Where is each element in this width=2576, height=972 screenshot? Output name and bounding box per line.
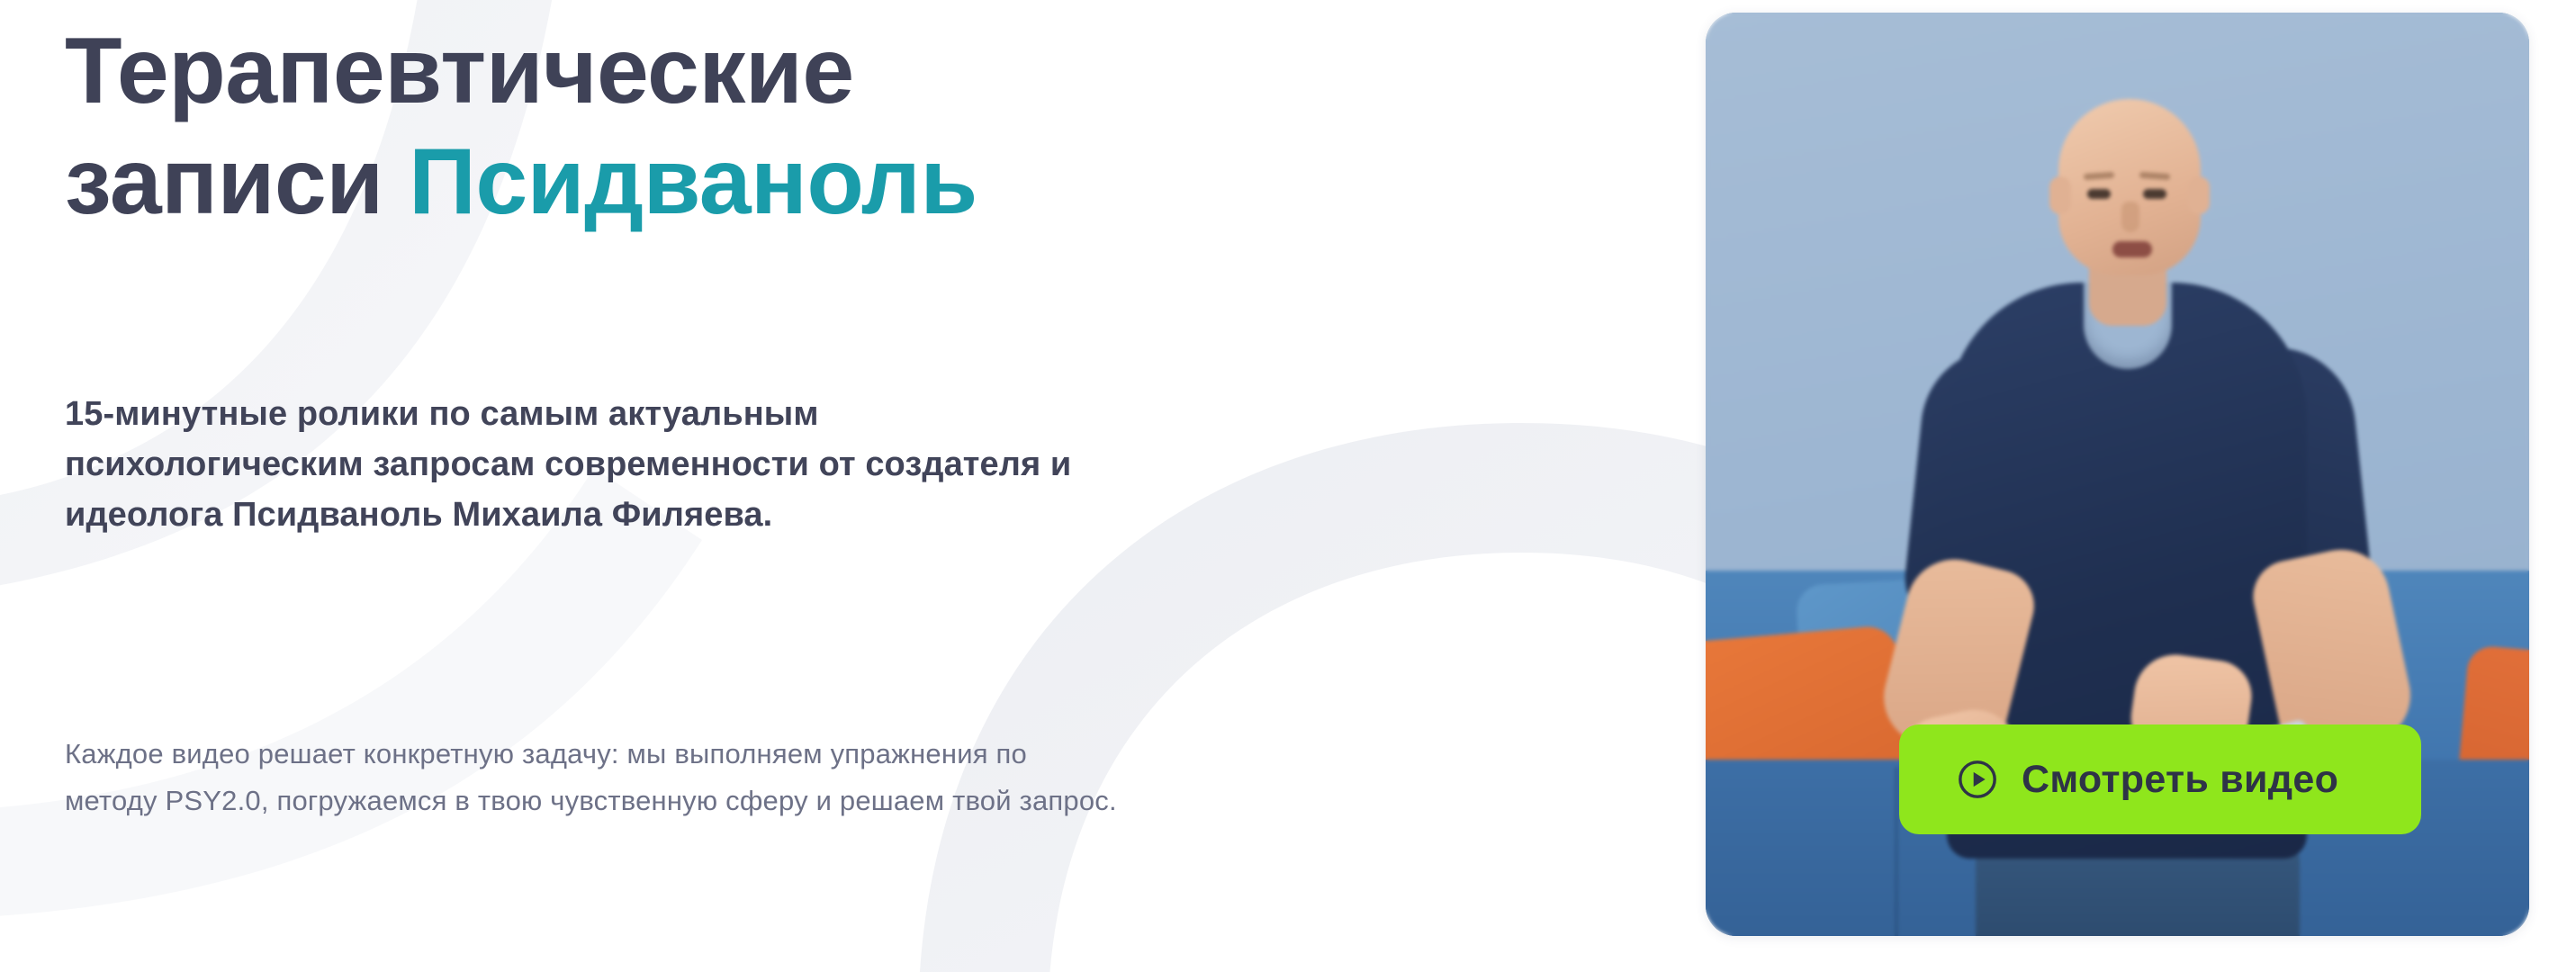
headline-line-2-plain: записи — [65, 130, 409, 234]
watch-video-button-label: Смотреть видео — [2022, 758, 2338, 802]
headline-brand-accent: Псидваноль — [409, 130, 977, 234]
hero-text-column: Терапевтические записи Псидваноль 15-мин… — [65, 0, 1613, 972]
hero-body-copy: Каждое видео решает конкретную задачу: м… — [65, 731, 1127, 824]
hero-subheadline: 15-минутные ролики по самым актуальным п… — [65, 389, 1091, 541]
watch-video-button[interactable]: Смотреть видео — [1899, 724, 2421, 834]
video-preview-card[interactable]: Смотреть видео — [1706, 13, 2529, 936]
page-title: Терапевтические записи Псидваноль — [65, 16, 1469, 237]
hero-section: Терапевтические записи Псидваноль 15-мин… — [0, 0, 2576, 972]
headline-line-1: Терапевтические — [65, 19, 854, 123]
play-circle-icon — [1957, 759, 1998, 800]
